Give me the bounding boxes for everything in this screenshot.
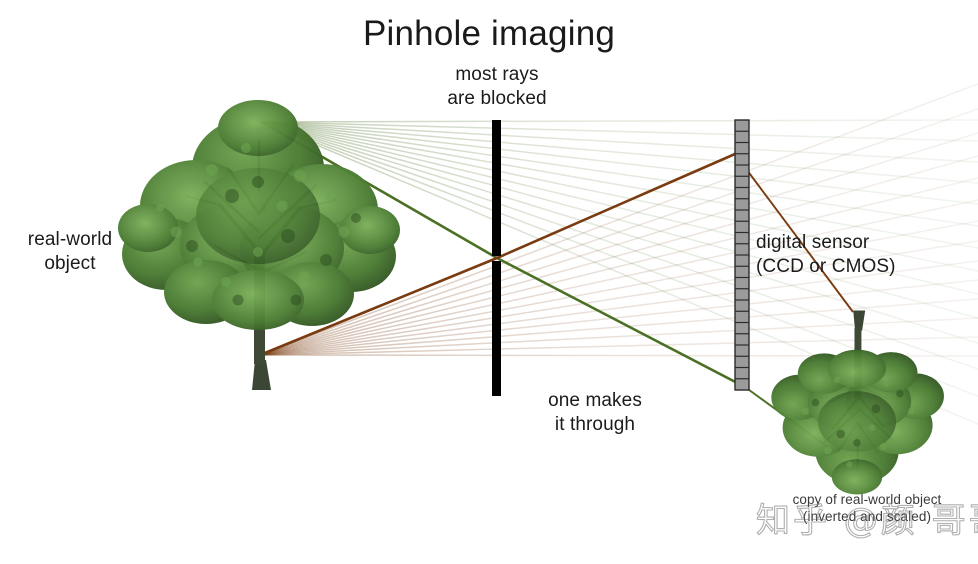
label-copy-of-real-world-object: copy of real-world object (inverted and … bbox=[772, 491, 962, 526]
label-digital-sensor: digital sensor (CCD or CMOS) bbox=[756, 231, 976, 280]
digital-sensor-array bbox=[735, 120, 749, 390]
label-most-rays-blocked: most rays are blocked bbox=[387, 63, 607, 112]
label-one-makes-it-through: one makes it through bbox=[485, 389, 705, 438]
pinhole-imaging-diagram: Pinhole imaging real-world object most r… bbox=[0, 0, 978, 564]
label-real-world-object: real-world object bbox=[0, 228, 140, 277]
real-world-tree bbox=[118, 100, 400, 390]
page-title: Pinhole imaging bbox=[0, 12, 978, 57]
